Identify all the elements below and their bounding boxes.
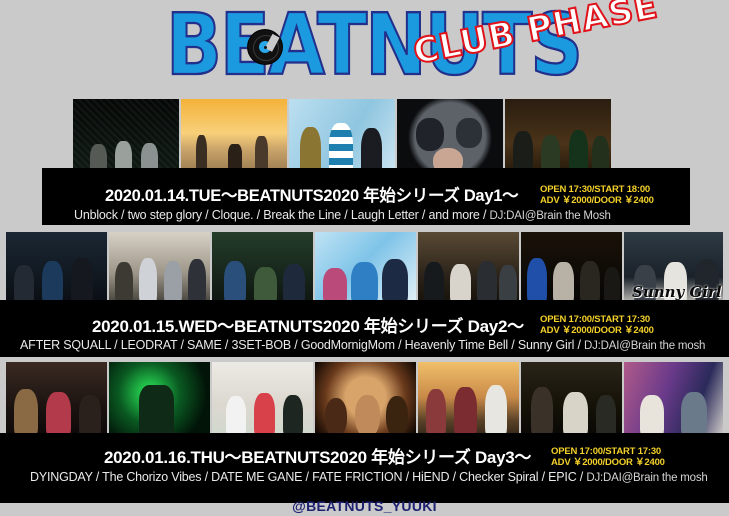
header-logo-area: BEATNUTS CLUB PHASE (0, 0, 729, 95)
day1-open-time: OPEN 17:30/START 18:00 (540, 184, 654, 195)
day2-dj: DJ:DAI@Brain the mosh (584, 340, 705, 352)
day3-dj: DJ:DAI@Brain the mosh (586, 472, 707, 484)
day1-dj: DJ:DAI@Brain the Mosh (490, 210, 611, 222)
social-handle: @BEATNUTS_YUUKI (0, 498, 729, 514)
day2-acts: AFTER SQUALL / LEODRAT / SAME / 3SET-BOB… (20, 338, 584, 352)
day3-time-info: OPEN 17:00/START 17:30 ADV ￥2000/DOOR ￥2… (551, 446, 665, 468)
band-photo (418, 362, 519, 440)
band-photo (109, 232, 210, 307)
day3-photo-strip (6, 362, 723, 440)
band-photo (6, 232, 107, 307)
band-photo (521, 362, 622, 440)
day1-time-info: OPEN 17:30/START 18:00 ADV ￥2000/DOOR ￥2… (540, 184, 654, 206)
band-photo (315, 232, 416, 307)
band-photo (418, 232, 519, 307)
band-photo (624, 362, 723, 440)
vinyl-record-icon (248, 30, 282, 64)
flyer-canvas: BEATNUTS CLUB PHASE (0, 0, 729, 516)
day2-time-info: OPEN 17:00/START 17:30 ADV ￥2000/DOOR ￥2… (540, 314, 654, 336)
day2-title: 2020.01.15.WED〜BEATNUTS2020 年始シリーズ Day2〜 (92, 312, 524, 337)
band-photo (212, 362, 313, 440)
day3-open-time: OPEN 17:00/START 17:30 (551, 446, 665, 457)
band-photo (6, 362, 107, 440)
band-photo (521, 232, 622, 307)
day2-price: ADV ￥2000/DOOR ￥2400 (540, 325, 654, 336)
band-photo (315, 362, 416, 440)
day3-title: 2020.01.16.THU〜BEATNUTS2020 年始シリーズ Day3〜 (104, 443, 531, 468)
day3-price: ADV ￥2000/DOOR ￥2400 (551, 457, 665, 468)
day3-lineup: DYINGDAY / The Chorizo Vibes / DATE ME G… (30, 470, 708, 484)
day2-lineup: AFTER SQUALL / LEODRAT / SAME / 3SET-BOB… (20, 338, 705, 352)
band-photo (109, 362, 210, 440)
band-photo-sunny-girl: Sunny Girl (624, 232, 723, 307)
day2-open-time: OPEN 17:00/START 17:30 (540, 314, 654, 325)
sunny-girl-logo: Sunny Girl (632, 283, 722, 301)
day2-photo-strip: Sunny Girl (6, 232, 723, 307)
day1-lineup: Unblock / two step glory / Cloque. / Bre… (74, 208, 611, 222)
day1-acts: Unblock / two step glory / Cloque. / Bre… (74, 208, 490, 222)
band-photo (212, 232, 313, 307)
day1-title: 2020.01.14.TUE〜BEATNUTS2020 年始シリーズ Day1〜 (105, 182, 518, 206)
day3-acts: DYINGDAY / The Chorizo Vibes / DATE ME G… (30, 470, 586, 484)
day1-price: ADV ￥2000/DOOR ￥2400 (540, 195, 654, 206)
